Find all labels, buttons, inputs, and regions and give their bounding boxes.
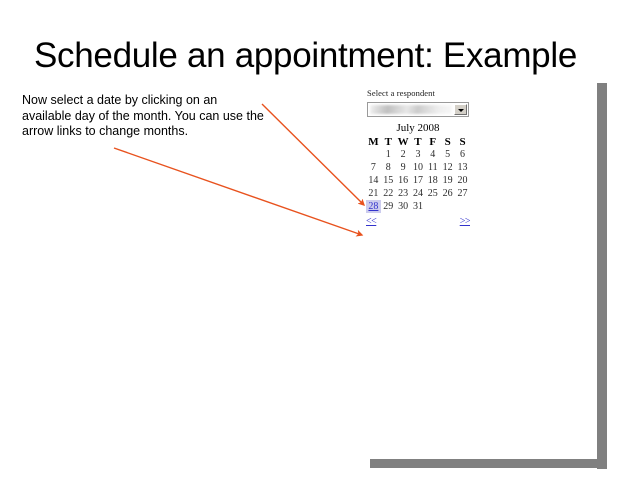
calendar-week-row: 28 29 30 31 [366, 200, 470, 213]
calendar-day-cell[interactable]: 2 [396, 148, 411, 161]
calendar-day-cell [440, 200, 455, 213]
calendar-day-cell[interactable]: 25 [425, 187, 440, 200]
page-title: Schedule an appointment: Example [34, 36, 614, 76]
respondent-select-value [370, 105, 452, 114]
arrow-to-month-links [114, 148, 362, 235]
calendar-week-row: 14 15 16 17 18 19 20 [366, 174, 470, 187]
calendar-day-cell[interactable]: 29 [381, 200, 396, 213]
weekday-header: S [440, 135, 455, 148]
calendar-day-cell[interactable]: 5 [440, 148, 455, 161]
instruction-text: Now select a date by clicking on an avai… [22, 93, 270, 140]
chevron-down-icon[interactable] [454, 104, 467, 115]
weekday-header: S [455, 135, 470, 148]
calendar-day-cell[interactable]: 9 [396, 161, 411, 174]
slide-frame-shadow-right [597, 83, 607, 469]
weekday-header: M [366, 135, 381, 148]
slide-frame-shadow-bottom [370, 459, 607, 468]
calendar-day-cell[interactable]: 20 [455, 174, 470, 187]
calendar-day-cell [455, 200, 470, 213]
calendar-day-cell[interactable]: 16 [396, 174, 411, 187]
calendar-day-cell[interactable]: 17 [411, 174, 426, 187]
weekday-header: T [411, 135, 426, 148]
calendar-day-cell[interactable]: 6 [455, 148, 470, 161]
calendar-day-cell[interactable]: 22 [381, 187, 396, 200]
calendar-day-cell[interactable]: 8 [381, 161, 396, 174]
weekday-header: T [381, 135, 396, 148]
calendar-day-cell[interactable]: 7 [366, 161, 381, 174]
previous-month-link[interactable]: << [366, 216, 376, 227]
calendar-day-cell[interactable]: 13 [455, 161, 470, 174]
calendar-day-cell[interactable]: 21 [366, 187, 381, 200]
calendar-day-cell[interactable]: 27 [455, 187, 470, 200]
calendar-day-cell[interactable]: 26 [440, 187, 455, 200]
next-month-link[interactable]: >> [460, 216, 470, 227]
calendar-day-cell[interactable]: 11 [425, 161, 440, 174]
calendar-day-cell[interactable]: 10 [411, 161, 426, 174]
calendar-day-cell [425, 200, 440, 213]
calendar-day-cell[interactable]: 24 [411, 187, 426, 200]
respondent-select[interactable] [367, 102, 469, 117]
arrow-to-day-grid [262, 104, 364, 205]
calendar-day-cell[interactable]: 18 [425, 174, 440, 187]
calendar-day-cell[interactable]: 4 [425, 148, 440, 161]
weekday-header: W [396, 135, 411, 148]
calendar-day-cell[interactable]: 31 [411, 200, 426, 213]
calendar-day-cell[interactable]: 12 [440, 161, 455, 174]
calendar-week-row: 1 2 3 4 5 6 [366, 148, 470, 161]
calendar-day-cell[interactable]: 19 [440, 174, 455, 187]
calendar-day-cell[interactable]: 15 [381, 174, 396, 187]
calendar-month-title: July 2008 [366, 122, 470, 134]
calendar-table: M T W T F S S 1 2 3 4 5 6 7 8 9 [366, 135, 470, 213]
calendar-day-cell[interactable]: 3 [411, 148, 426, 161]
calendar-week-row: 21 22 23 24 25 26 27 [366, 187, 470, 200]
calendar-widget: Select a respondent July 2008 M T W T F … [366, 88, 476, 227]
calendar-week-row: 7 8 9 10 11 12 13 [366, 161, 470, 174]
calendar-day-cell[interactable]: 23 [396, 187, 411, 200]
calendar-day-cell [366, 148, 381, 161]
respondent-label: Select a respondent [367, 88, 476, 98]
weekday-header: F [425, 135, 440, 148]
calendar-navigation: << >> [366, 216, 470, 227]
calendar-day-cell-selected[interactable]: 28 [366, 200, 381, 213]
calendar-weekday-header-row: M T W T F S S [366, 135, 470, 148]
calendar-day-cell[interactable]: 1 [381, 148, 396, 161]
calendar-day-cell[interactable]: 14 [366, 174, 381, 187]
calendar-day-cell[interactable]: 30 [396, 200, 411, 213]
